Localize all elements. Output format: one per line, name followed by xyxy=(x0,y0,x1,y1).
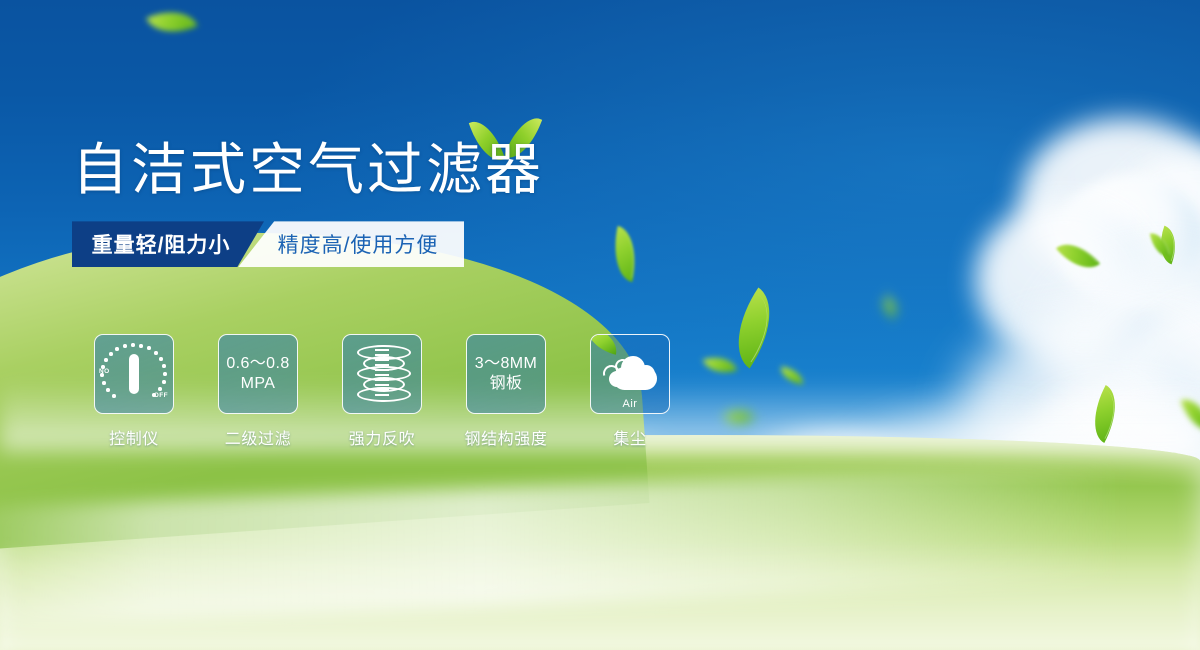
feature-label: 二级过滤 xyxy=(225,425,291,449)
coil-icon xyxy=(342,334,422,414)
pressure-line1: 0.6～0.8 xyxy=(226,355,289,372)
feature-label: 集尘 xyxy=(613,425,646,449)
feature-label: 钢结构强度 xyxy=(464,425,547,449)
feature-list: NO OFF 控制仪 0.6～0.8 MPA 二级过滤 xyxy=(72,334,692,449)
steel-line1: 3～8MM xyxy=(475,355,537,372)
feature-label: 强力反吹 xyxy=(349,425,415,449)
grass-highlight xyxy=(0,540,1200,650)
feature-item-blowback[interactable]: 强力反吹 xyxy=(320,334,444,449)
subtitle-left: 重量轻/阻力小 xyxy=(72,221,264,267)
gauge-label-no: NO xyxy=(99,368,110,375)
pressure-value: 0.6～0.8 MPA xyxy=(226,354,289,393)
subtitle-right: 精度高/使用方便 xyxy=(238,221,464,267)
cloud-shape: Air xyxy=(601,352,659,396)
air-label: Air xyxy=(601,398,659,410)
page-title: 自洁式空气过滤器 xyxy=(72,140,712,199)
coil-shape xyxy=(355,345,409,403)
feature-item-steel[interactable]: 3～8MM 钢板 钢结构强度 xyxy=(444,334,568,449)
gauge-icon: NO OFF xyxy=(94,334,174,414)
cloud-air-icon: Air xyxy=(590,334,670,414)
headline-block: 自洁式空气过滤器 重量轻/阻力小 精度高/使用方便 xyxy=(72,140,712,267)
product-banner: 自洁式空气过滤器 重量轻/阻力小 精度高/使用方便 xyxy=(0,0,1200,650)
steel-value: 3～8MM 钢板 xyxy=(475,354,537,393)
feature-label: 控制仪 xyxy=(109,425,159,449)
steel-plate-text-icon: 3～8MM 钢板 xyxy=(466,334,546,414)
pressure-text-icon: 0.6～0.8 MPA xyxy=(218,334,298,414)
feature-item-pressure[interactable]: 0.6～0.8 MPA 二级过滤 xyxy=(196,334,320,449)
feature-item-dust[interactable]: Air 集尘 xyxy=(568,334,692,449)
pressure-line2: MPA xyxy=(226,374,289,394)
gauge-label-off: OFF xyxy=(154,392,168,399)
gauge-needle xyxy=(129,354,139,394)
feature-item-controller[interactable]: NO OFF 控制仪 xyxy=(72,334,196,449)
subtitle-banner: 重量轻/阻力小 精度高/使用方便 xyxy=(72,221,464,267)
steel-line2: 钢板 xyxy=(475,374,537,394)
gauge-dial: NO OFF xyxy=(100,343,168,405)
meadow-ground xyxy=(0,435,1200,650)
